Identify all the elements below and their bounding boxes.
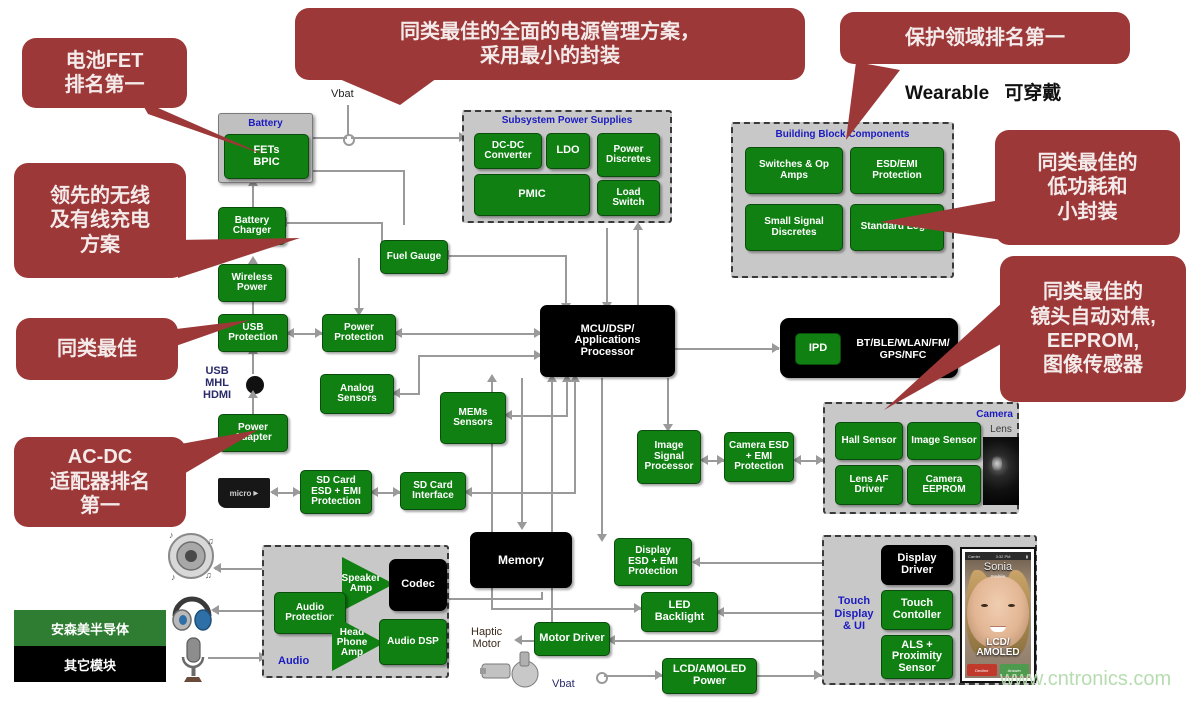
wire-mcu-fuelgauge-v (565, 255, 567, 307)
block-radio-label: BT/BLE/WLAN/FM/ GPS/NFC (847, 319, 959, 379)
block-power-protection[interactable]: Power Protection (322, 314, 396, 352)
block-image-signal-processor[interactable]: Image Signal Processor (637, 430, 701, 484)
arrowhead (487, 374, 497, 382)
wire-subsystem-mcu (606, 228, 608, 308)
block-codec[interactable]: Codec (389, 559, 447, 611)
block-fuel-gauge[interactable]: Fuel Gauge (380, 240, 448, 274)
group-touch-title: Touch Display & UI (828, 595, 880, 633)
phone-screen: Carrier 3:32 PM ▮ Sonia mobile LCD/ AMOL… (965, 552, 1031, 678)
block-power-discretes[interactable]: Power Discretes (597, 133, 660, 177)
wire-vbat-lcdpower (604, 675, 662, 677)
block-standard-logic[interactable]: Standard Logic (850, 204, 944, 251)
wire-displayesd-touch (694, 562, 822, 564)
wire-powerprot-mcu (396, 333, 542, 335)
legend-onsemi: 安森美半导体 (14, 610, 166, 646)
phone-status-bar: Carrier 3:32 PM ▮ (965, 552, 1031, 560)
label-haptic-motor: Haptic Motor (471, 626, 502, 650)
block-sd-card-interface[interactable]: SD Card Interface (400, 472, 466, 510)
svg-text:♪: ♪ (171, 572, 176, 582)
arrowhead (633, 222, 643, 230)
wire-mcu-led-h (491, 608, 641, 610)
group-building-title: Building Block Components (733, 129, 952, 140)
label-vbat-top: Vbat (331, 88, 354, 100)
label-vbat-bottom: Vbat (552, 678, 575, 690)
arrowhead (700, 455, 708, 465)
block-wireless-power[interactable]: Wireless Power (218, 264, 286, 302)
group-subsystem-power-supplies: Subsystem Power Supplies DC-DC Converter… (462, 110, 672, 223)
phone-screen-label: LCD/ AMOLED (965, 638, 1031, 658)
speaker-icon: ♪ ♫ ♪ ♫ (165, 528, 217, 584)
wire-mcu-motor-v (551, 378, 553, 640)
block-ipd[interactable]: IPD (795, 333, 841, 365)
callout-power-mgmt[interactable]: 同类最佳的全面的电源管理方案， 采用最小的封装 (295, 8, 805, 80)
lens-label: Lens (985, 424, 1017, 435)
junction-vbat-bottom (596, 672, 608, 684)
watermark: www.cntronics.com (1000, 668, 1171, 691)
wire-vbat-to-subsystem (351, 137, 463, 139)
block-usb-protection[interactable]: USB Protection (218, 314, 288, 352)
wire-mcu-radio (675, 348, 779, 350)
group-touch-display-ui: Touch Display & UI Display Driver Touch … (822, 535, 1037, 685)
phone-time: 3:32 PM (996, 554, 1011, 559)
svg-text:♫: ♫ (205, 570, 212, 580)
wire-analog-2 (418, 355, 420, 395)
wire-speaker (215, 568, 265, 570)
block-ldo[interactable]: LDO (546, 133, 590, 169)
wire-mems-1 (508, 415, 568, 417)
block-led-backlight[interactable]: LED Backlight (641, 592, 718, 632)
callout-low-power[interactable]: 同类最佳的 低功耗和 小封装 (995, 130, 1180, 245)
eye-right (1008, 604, 1015, 607)
wire-motor-right (609, 640, 822, 642)
wire-fuelgauge-powerprot (358, 258, 360, 310)
block-dc-dc-converter[interactable]: DC-DC Converter (474, 133, 542, 169)
legend: 安森美半导体 其它模块 (14, 610, 166, 682)
wire-headphone (213, 610, 265, 612)
haptic-motor-icon (480, 648, 542, 694)
block-battery-charger[interactable]: Battery Charger (218, 207, 286, 245)
arrowhead (772, 343, 780, 353)
phone-carrier: Carrier (968, 554, 980, 559)
eye-left (981, 604, 988, 607)
arrowhead (248, 256, 258, 264)
arrowhead (814, 670, 822, 680)
block-motor-driver[interactable]: Motor Driver (534, 622, 610, 656)
group-camera: Camera Hall Sensor Image Sensor Lens AF … (823, 402, 1019, 514)
block-display-driver[interactable]: Display Driver (881, 545, 953, 585)
group-battery: Battery FETs BPIC (218, 113, 313, 183)
phone-mockup: Carrier 3:32 PM ▮ Sonia mobile LCD/ AMOL… (960, 547, 1036, 683)
group-subsystem-title: Subsystem Power Supplies (464, 115, 670, 126)
arrowhead (248, 390, 258, 398)
wire-analog-3 (418, 355, 542, 357)
group-building-block-components: Building Block Components Switches & Op … (731, 122, 954, 278)
block-lcd-amoled-power[interactable]: LCD/AMOLED Power (662, 658, 757, 694)
wire-into-battery (310, 170, 405, 172)
svg-text:♫: ♫ (207, 536, 214, 546)
block-mems-sensors[interactable]: MEMs Sensors (440, 392, 506, 444)
arrowhead (514, 635, 522, 645)
callout-ac-dc[interactable]: AC-DC 适配器排名 第一 (14, 437, 186, 527)
legend-other: 其它模块 (14, 646, 166, 682)
block-fets-bpic[interactable]: FETs BPIC (224, 134, 309, 179)
block-display-esd[interactable]: Display ESD + EMI Protection (614, 538, 692, 586)
block-speaker-amp[interactable]: Speaker Amp (342, 557, 394, 611)
battery-icon: ▮ (1026, 554, 1028, 559)
microsd-card-icon: micro ▸ (218, 478, 270, 508)
block-small-signal-discretes[interactable]: Small Signal Discretes (745, 204, 843, 251)
block-image-sensor[interactable]: Image Sensor (907, 422, 981, 460)
wire-into-battery-v (403, 170, 405, 225)
block-audio-dsp[interactable]: Audio DSP (379, 619, 447, 665)
page-title: Wearable 可穿戴 (905, 78, 1061, 105)
microphone-icon (178, 636, 208, 686)
group-audio: Audio Speaker Amp Codec Audio Protection… (262, 545, 449, 678)
wire-mcu-memory (521, 378, 523, 526)
wire-mems-2 (566, 378, 568, 416)
wire-mcu-fuelgauge (447, 255, 567, 257)
phone-caller-name: Sonia (965, 561, 1031, 573)
block-switches-op-amps[interactable]: Switches & Op Amps (745, 147, 843, 194)
block-analog-sensors[interactable]: Analog Sensors (320, 374, 394, 414)
label-usb-mhl-hdmi: USB MHL HDMI (203, 365, 231, 401)
block-hall-sensor[interactable]: Hall Sensor (835, 422, 903, 460)
wire-sdif-mcu-v (574, 378, 576, 494)
block-radio-module[interactable]: IPD BT/BLE/WLAN/FM/ GPS/NFC (780, 318, 958, 378)
title-zh: 可穿戴 (1004, 83, 1061, 104)
arrowhead (793, 455, 801, 465)
decline-call-button[interactable]: Decline (967, 664, 997, 676)
group-camera-title: Camera (825, 409, 1021, 420)
wire-lcdpower-touch (757, 675, 822, 677)
lens-image (983, 437, 1019, 505)
wire-led-touch (718, 612, 822, 614)
block-power-adapter[interactable]: Power Adapter (218, 414, 288, 452)
callout-wireless-wired[interactable]: 领先的无线 及有线充电 方案 (14, 163, 186, 278)
junction-vbat (343, 134, 355, 146)
block-camera-eeprom[interactable]: Camera EEPROM (907, 465, 981, 505)
title-en: Wearable (905, 83, 989, 104)
wire-to-charger (285, 222, 383, 224)
wire-memory-audio-v (541, 592, 543, 600)
block-touch-controller[interactable]: Touch Contoller (881, 590, 953, 630)
block-mcu-dsp-applications-processor[interactable]: MCU/DSP/ Applications Processor (540, 305, 675, 377)
phone-caller-sub: mobile (965, 574, 1031, 580)
block-als-proximity-sensor[interactable]: ALS + Proximity Sensor (881, 635, 953, 679)
block-camera-esd[interactable]: Camera ESD + EMI Protection (724, 432, 794, 482)
group-battery-title: Battery (219, 118, 312, 129)
arrowhead (270, 487, 278, 497)
block-memory[interactable]: Memory (470, 532, 572, 588)
wire-mcu-up (637, 226, 639, 308)
callout-best-in-class[interactable]: 同类最佳 (16, 318, 178, 380)
wire-mcu-isp (667, 378, 669, 428)
block-load-switch[interactable]: Load Switch (597, 180, 660, 216)
block-pmic[interactable]: PMIC (474, 174, 590, 216)
mouth (990, 626, 1006, 632)
block-lens-af-driver[interactable]: Lens AF Driver (835, 465, 903, 505)
arrowhead (517, 522, 527, 530)
wire-mcu-displayesd (601, 378, 603, 538)
block-diagram-canvas: Battery FETs BPIC Subsystem Power Suppli… (0, 0, 1192, 701)
arrowhead (597, 534, 607, 542)
headphone-icon (170, 590, 214, 632)
wire-mic (208, 657, 265, 659)
callout-protection[interactable]: 保护领域排名第一 (840, 12, 1130, 64)
block-sd-card-esd[interactable]: SD Card ESD + EMI Protection (300, 470, 372, 514)
callout-camera-af[interactable]: 同类最佳的 镜头自动对焦, EEPROM, 图像传感器 (1000, 256, 1186, 402)
block-esd-emi-protection[interactable]: ESD/EMI Protection (850, 147, 944, 194)
svg-text:♪: ♪ (169, 530, 174, 540)
callout-battery-fet[interactable]: 电池FET 排名第一 (22, 38, 187, 108)
arrowhead (692, 557, 700, 567)
